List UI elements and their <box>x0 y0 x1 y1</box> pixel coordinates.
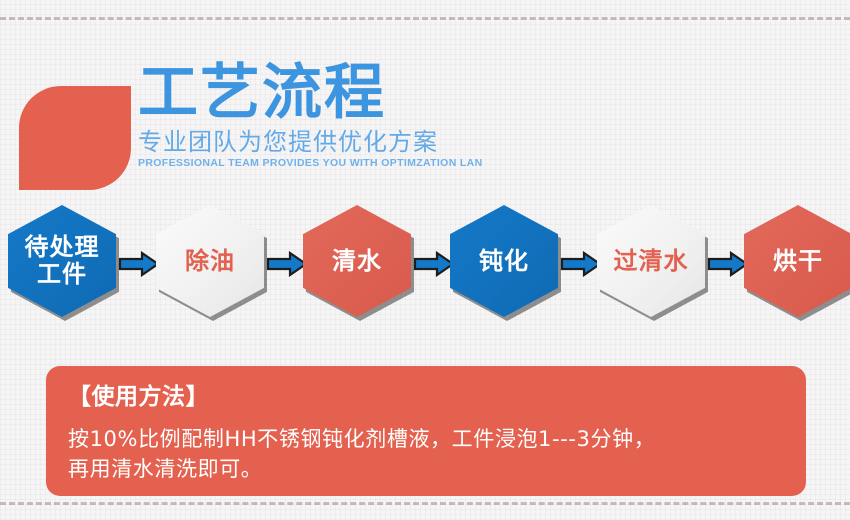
flow-step-label: 钝化 <box>479 248 529 275</box>
title-block: 工艺流程 专业团队为您提供优化方案 PROFESSIONAL TEAM PROV… <box>138 60 483 170</box>
usage-instructions-panel: 【使用方法】 按10%比例配制HH不锈钢钝化剂槽液，工件浸泡1---3分钟， 再… <box>46 366 806 496</box>
flow-step-3[interactable]: 清水 <box>303 205 411 317</box>
flow-arrow-4 <box>560 251 602 277</box>
flow-step-label: 清水 <box>332 248 382 275</box>
usage-heading: 【使用方法】 <box>68 382 784 412</box>
flow-step-label: 烘干 <box>773 248 823 275</box>
header-banner: 工艺流程 专业团队为您提供优化方案 PROFESSIONAL TEAM PROV… <box>0 60 850 200</box>
page-english-caption: PROFESSIONAL TEAM PROVIDES YOU WITH OPTI… <box>138 156 483 170</box>
flow-step-6[interactable]: 烘干 <box>744 205 850 317</box>
flow-step-2[interactable]: 除油 <box>156 205 264 317</box>
flow-arrow-3 <box>413 251 455 277</box>
page-title: 工艺流程 <box>138 60 483 126</box>
flow-step-label: 待处理工件 <box>25 234 100 288</box>
bottom-dashed-divider <box>0 502 850 505</box>
flow-step-label: 过清水 <box>614 248 689 275</box>
process-flow-diagram: 待处理工件 除油 清水 钝化 <box>0 205 850 323</box>
usage-text-line-1: 按10%比例配制HH不锈钢钝化剂槽液，工件浸泡1---3分钟， <box>68 424 784 454</box>
flow-step-4[interactable]: 钝化 <box>450 205 558 317</box>
top-dashed-divider <box>0 17 850 20</box>
flow-step-5[interactable]: 过清水 <box>597 205 705 317</box>
flow-arrow-1 <box>118 251 160 277</box>
usage-text-line-2: 再用清水清洗即可。 <box>68 454 784 484</box>
usage-body: 按10%比例配制HH不锈钢钝化剂槽液，工件浸泡1---3分钟， 再用清水清洗即可… <box>68 424 784 484</box>
flow-arrow-5 <box>707 251 749 277</box>
flow-step-label: 除油 <box>185 248 235 275</box>
page-subtitle: 专业团队为您提供优化方案 <box>138 128 483 156</box>
flow-arrow-2 <box>266 251 308 277</box>
flow-step-1[interactable]: 待处理工件 <box>8 205 116 317</box>
logo-mark-icon <box>19 86 131 190</box>
